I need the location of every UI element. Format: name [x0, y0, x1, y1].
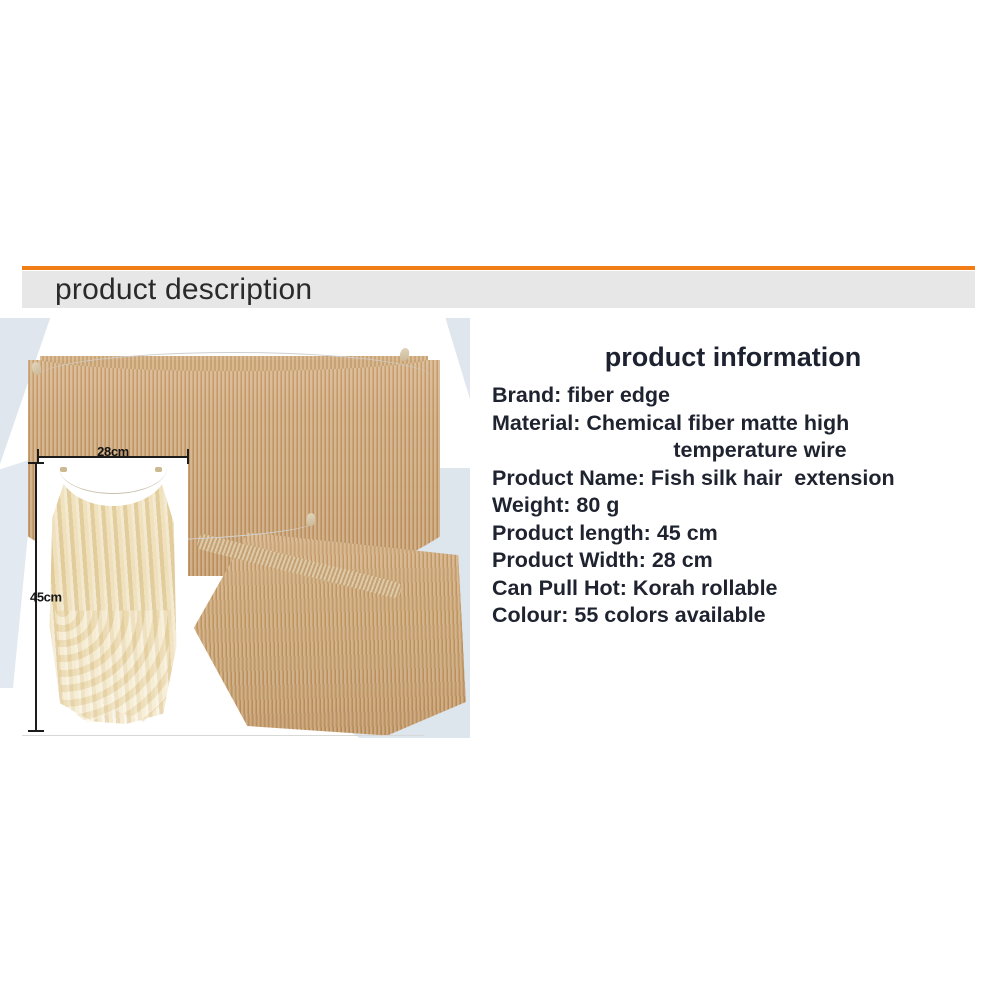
inset-clip-right	[155, 467, 162, 472]
product-information-list: Brand: fiber edge Material: Chemical fib…	[492, 382, 988, 630]
inset-clip-left	[60, 467, 67, 472]
section-header: product description	[22, 266, 975, 310]
info-line-weight: Weight: 80 g	[492, 492, 988, 520]
photo-canvas: 28cm 45cm	[0, 318, 470, 738]
blonde-hair-waves	[50, 610, 177, 724]
length-measure-cap-top	[28, 462, 44, 464]
info-line-material-cont: temperature wire	[492, 437, 988, 465]
length-measure-label: 45cm	[30, 590, 62, 605]
info-line-length: Product length: 45 cm	[492, 520, 988, 548]
info-line-width: Product Width: 28 cm	[492, 547, 988, 575]
accent-rule	[22, 266, 975, 270]
product-information-heading: product information	[492, 340, 988, 374]
info-line-material: Material: Chemical fiber matte high	[492, 410, 988, 438]
section-title: product description	[55, 274, 312, 306]
width-measure-label: 28cm	[94, 444, 132, 459]
width-measurement: 28cm	[37, 446, 189, 466]
blonde-hair-extension	[47, 466, 179, 724]
width-measure-cap-right	[187, 449, 189, 464]
length-measure-cap-bottom	[28, 730, 44, 732]
product-description-page: product description	[0, 0, 1000, 1000]
product-information-block: product information Brand: fiber edge Ma…	[492, 340, 988, 630]
info-line-pull-hot: Can Pull Hot: Korah rollable	[492, 575, 988, 603]
hair-weft-lower	[188, 506, 467, 738]
info-line-brand: Brand: fiber edge	[492, 382, 988, 410]
photo-baseline-rule	[22, 735, 424, 736]
length-measurement: 45cm	[26, 462, 46, 732]
info-line-product-name: Product Name: Fish silk hair extension	[492, 465, 988, 493]
wire-bead-top	[306, 513, 316, 527]
info-line-colour: Colour: 55 colors available	[492, 602, 988, 630]
product-photo-collage: 28cm 45cm	[0, 318, 470, 738]
